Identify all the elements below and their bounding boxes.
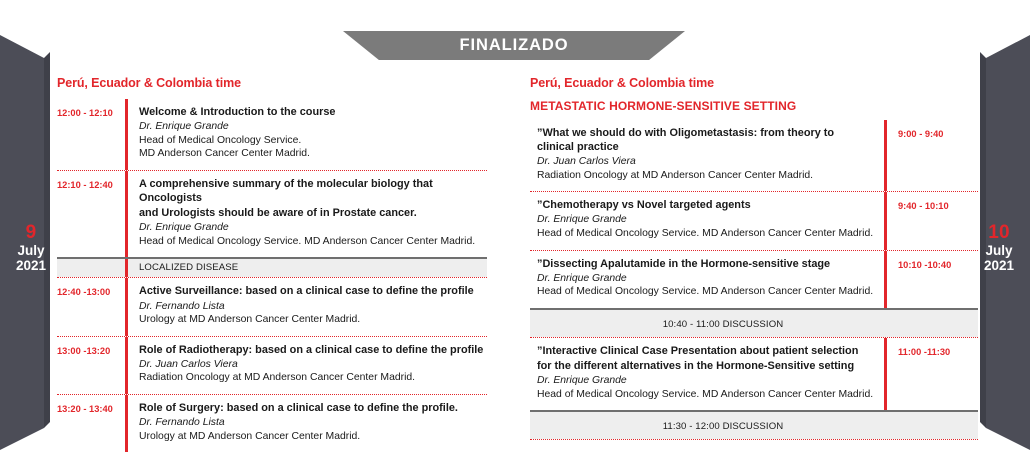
session-body: ”Chemotherapy vs Novel targeted agents D… [530, 192, 884, 249]
day2-agenda-column: Perú, Ecuador & Colombia time METASTATIC… [530, 76, 978, 440]
session-row[interactable]: ”Chemotherapy vs Novel targeted agents D… [530, 191, 978, 249]
session-affiliation: Urology at MD Anderson Cancer Center Mad… [139, 313, 487, 327]
day2-timezone-label: Perú, Ecuador & Colombia time [530, 76, 978, 90]
session-title: Role of Radiotherapy: based on a clinica… [139, 343, 487, 357]
discussion-band: 11:30 - 12:00 DISCUSSION [530, 410, 978, 439]
day1-side-panel: 9 July 2021 [0, 0, 62, 450]
session-speaker: Dr. Enrique Grande [139, 120, 487, 134]
session-body: Active Surveillance: based on a clinical… [128, 278, 487, 335]
session-title: ”Interactive Clinical Case Presentation … [537, 344, 874, 358]
day1-year: 2021 [0, 258, 62, 273]
session-speaker: Dr. Fernando Lista [139, 416, 487, 430]
session-row[interactable]: ”Dissecting Apalutamide in the Hormone-s… [530, 250, 978, 308]
session-row[interactable]: 13:20 - 13:40 Role of Surgery: based on … [57, 394, 487, 452]
session-affiliation: Head of Medical Oncology Service. MD And… [537, 388, 874, 402]
session-affiliation: Urology at MD Anderson Cancer Center Mad… [139, 430, 487, 444]
session-title: ”What we should do with Oligometastasis:… [537, 126, 874, 154]
session-speaker: Dr. Enrique Grande [537, 272, 874, 286]
session-title-2: and Urologists should be aware of in Pro… [139, 206, 487, 220]
session-time: 12:10 - 12:40 [57, 171, 125, 190]
session-speaker: Dr. Juan Carlos Viera [537, 155, 874, 169]
session-body: ”Interactive Clinical Case Presentation … [530, 338, 884, 410]
session-time: 13:00 -13:20 [57, 337, 125, 356]
session-row[interactable]: 12:10 - 12:40 A comprehensive summary of… [57, 170, 487, 257]
day2-section-title: METASTATIC HORMONE-SENSITIVE SETTING [530, 99, 978, 113]
session-body: Role of Surgery: based on a clinical cas… [128, 395, 487, 452]
session-body: ”What we should do with Oligometastasis:… [530, 120, 884, 191]
section-band-localized-disease: LOCALIZED DISEASE [57, 257, 487, 277]
session-speaker: Dr. Enrique Grande [537, 213, 874, 227]
session-time: 9:00 - 9:40 [887, 120, 978, 191]
session-time: 11:00 -11:30 [887, 338, 978, 410]
session-body: Welcome & Introduction to the course Dr.… [128, 99, 487, 170]
session-affiliation: Head of Medical Oncology Service. MD And… [139, 235, 487, 249]
session-affiliation: Radiation Oncology at MD Anderson Cancer… [537, 169, 874, 183]
day1-agenda-column: Perú, Ecuador & Colombia time 12:00 - 12… [57, 76, 487, 452]
status-ribbon: FINALIZADO [343, 31, 685, 60]
session-title: A comprehensive summary of the molecular… [139, 177, 487, 205]
session-affiliation: Head of Medical Oncology Service. MD And… [537, 227, 874, 241]
day1-date: 9 July 2021 [0, 222, 62, 273]
band-accent-bar [125, 259, 128, 277]
session-speaker: Dr. Enrique Grande [537, 374, 874, 388]
session-time: 9:40 - 10:10 [887, 192, 978, 249]
session-title: ”Dissecting Apalutamide in the Hormone-s… [537, 257, 874, 271]
session-speaker: Dr. Enrique Grande [139, 221, 487, 235]
day1-month: July [0, 243, 62, 258]
session-row[interactable]: 12:40 -13:00 Active Surveillance: based … [57, 277, 487, 335]
session-body: ”Dissecting Apalutamide in the Hormone-s… [530, 251, 884, 308]
session-row[interactable]: ”What we should do with Oligometastasis:… [530, 120, 978, 191]
session-row[interactable]: ”Interactive Clinical Case Presentation … [530, 337, 978, 410]
session-title: Welcome & Introduction to the course [139, 105, 487, 119]
day1-day-number: 9 [0, 222, 62, 243]
session-speaker: Dr. Juan Carlos Viera [139, 358, 487, 372]
session-title: Active Surveillance: based on a clinical… [139, 284, 487, 298]
session-time: 10:10 -10:40 [887, 251, 978, 308]
session-time: 12:40 -13:00 [57, 278, 125, 297]
session-body: Role of Radiotherapy: based on a clinica… [128, 337, 487, 394]
session-time: 12:00 - 12:10 [57, 99, 125, 118]
session-row[interactable]: 12:00 - 12:10 Welcome & Introduction to … [57, 99, 487, 170]
session-time: 13:20 - 13:40 [57, 395, 125, 414]
session-title: ”Chemotherapy vs Novel targeted agents [537, 198, 874, 212]
agenda-canvas: 9 July 2021 10 July 2021 FINALIZADO Perú… [0, 0, 1030, 450]
session-row[interactable]: 13:00 -13:20 Role of Radiotherapy: based… [57, 336, 487, 394]
discussion-label: 11:30 - 12:00 DISCUSSION [663, 421, 784, 432]
discussion-band: 10:40 - 11:00 DISCUSSION [530, 308, 978, 337]
session-body: A comprehensive summary of the molecular… [128, 171, 487, 257]
discussion-label: 10:40 - 11:00 DISCUSSION [663, 319, 784, 330]
day1-timezone-label: Perú, Ecuador & Colombia time [57, 76, 487, 90]
session-affiliation: Head of Medical Oncology Service. MD And… [537, 285, 874, 299]
column-bottom-divider [530, 439, 978, 440]
session-affiliation: Head of Medical Oncology Service. [139, 134, 487, 148]
section-band-label: LOCALIZED DISEASE [139, 262, 487, 273]
status-badge: FINALIZADO [460, 36, 569, 55]
session-title-2: for the different alternatives in the Ho… [537, 359, 874, 373]
session-speaker: Dr. Fernando Lista [139, 300, 487, 314]
session-affiliation-2: MD Anderson Cancer Center Madrid. [139, 147, 487, 161]
session-title: Role of Surgery: based on a clinical cas… [139, 401, 487, 415]
session-affiliation: Radiation Oncology at MD Anderson Cancer… [139, 371, 487, 385]
